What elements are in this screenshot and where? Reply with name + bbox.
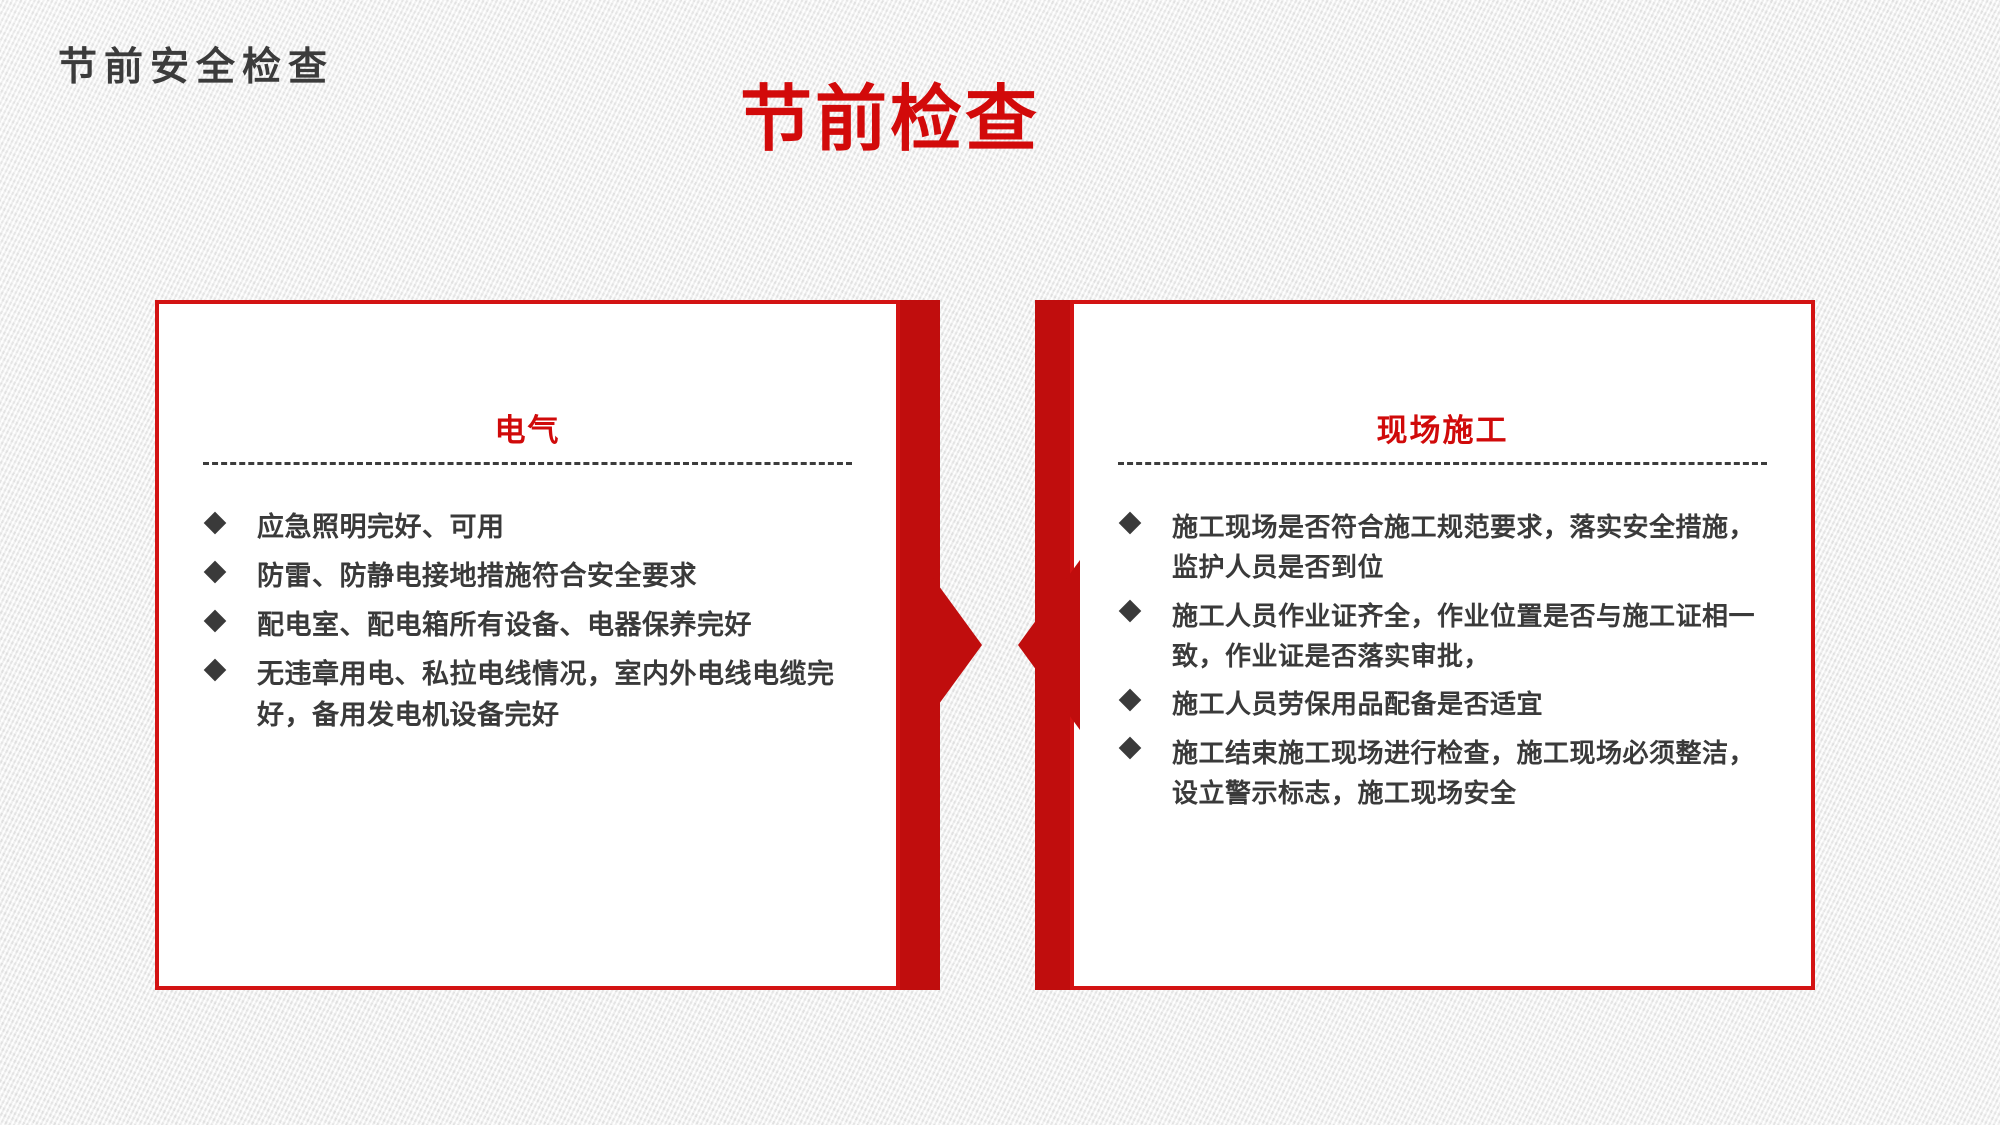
diamond-bullet-icon <box>1119 512 1142 535</box>
list-item: 施工结束施工现场进行检查，施工现场必须整洁，设立警示标志，施工现场安全 <box>1118 733 1767 814</box>
diamond-bullet-icon <box>1119 689 1142 712</box>
diamond-bullet-icon <box>204 512 227 535</box>
list-item: 施工人员劳保用品配备是否适宜 <box>1118 684 1767 724</box>
card-site-construction-body: 现场施工 施工现场是否符合施工规范要求，落实安全措施，监护人员是否到位 施工人员… <box>1074 304 1811 986</box>
list-item-text: 施工人员劳保用品配备是否适宜 <box>1172 689 1543 719</box>
card-electrical-body: 电气 应急照明完好、可用 防雷、防静电接地措施符合安全要求 配电室、配电箱所有设… <box>159 304 896 986</box>
list-item-text: 施工现场是否符合施工规范要求，落实安全措施，监护人员是否到位 <box>1172 512 1755 582</box>
list-item: 配电室、配电箱所有设备、电器保养完好 <box>203 605 852 646</box>
card-electrical[interactable]: 电气 应急照明完好、可用 防雷、防静电接地措施符合安全要求 配电室、配电箱所有设… <box>155 300 900 990</box>
list-item: 施工人员作业证齐全，作业位置是否与施工证相一致，作业证是否落实审批， <box>1118 596 1767 677</box>
diamond-bullet-icon <box>204 610 227 633</box>
card-site-construction-divider <box>1118 462 1767 465</box>
list-item: 防雷、防静电接地措施符合安全要求 <box>203 556 852 597</box>
diamond-bullet-icon <box>204 561 227 584</box>
card-site-construction-bullet-list: 施工现场是否符合施工规范要求，落实安全措施，监护人员是否到位 施工人员作业证齐全… <box>1118 507 1767 813</box>
list-item-text: 配电室、配电箱所有设备、电器保养完好 <box>257 610 752 640</box>
diamond-bullet-icon <box>204 659 227 682</box>
list-item: 无违章用电、私拉电线情况，室内外电线电缆完好，备用发电机设备完好 <box>203 654 852 736</box>
list-item-text: 无违章用电、私拉电线情况，室内外电线电缆完好，备用发电机设备完好 <box>257 659 835 730</box>
card-electrical-heading: 电气 <box>203 414 852 448</box>
list-item-text: 施工结束施工现场进行检查，施工现场必须整洁，设立警示标志，施工现场安全 <box>1172 738 1755 808</box>
card-site-construction-heading: 现场施工 <box>1118 414 1767 448</box>
list-item: 施工现场是否符合施工规范要求，落实安全措施，监护人员是否到位 <box>1118 507 1767 588</box>
card-site-construction[interactable]: 现场施工 施工现场是否符合施工规范要求，落实安全措施，监护人员是否到位 施工人员… <box>1070 300 1815 990</box>
page-title: 节前检查 <box>0 84 2000 156</box>
list-item-text: 应急照明完好、可用 <box>257 512 505 542</box>
list-item: 应急照明完好、可用 <box>203 507 852 548</box>
list-item-text: 施工人员作业证齐全，作业位置是否与施工证相一致，作业证是否落实审批， <box>1172 601 1755 671</box>
list-item-text: 防雷、防静电接地措施符合安全要求 <box>257 561 697 591</box>
card-electrical-bullet-list: 应急照明完好、可用 防雷、防静电接地措施符合安全要求 配电室、配电箱所有设备、电… <box>203 507 852 736</box>
diamond-bullet-icon <box>1119 600 1142 623</box>
slide-canvas: 节前安全检查 节前检查 电气 应急照明完好、可用 防雷、防静电接地措施符合安全要… <box>0 0 2000 1125</box>
diamond-bullet-icon <box>1119 737 1142 760</box>
card-electrical-divider <box>203 462 852 465</box>
